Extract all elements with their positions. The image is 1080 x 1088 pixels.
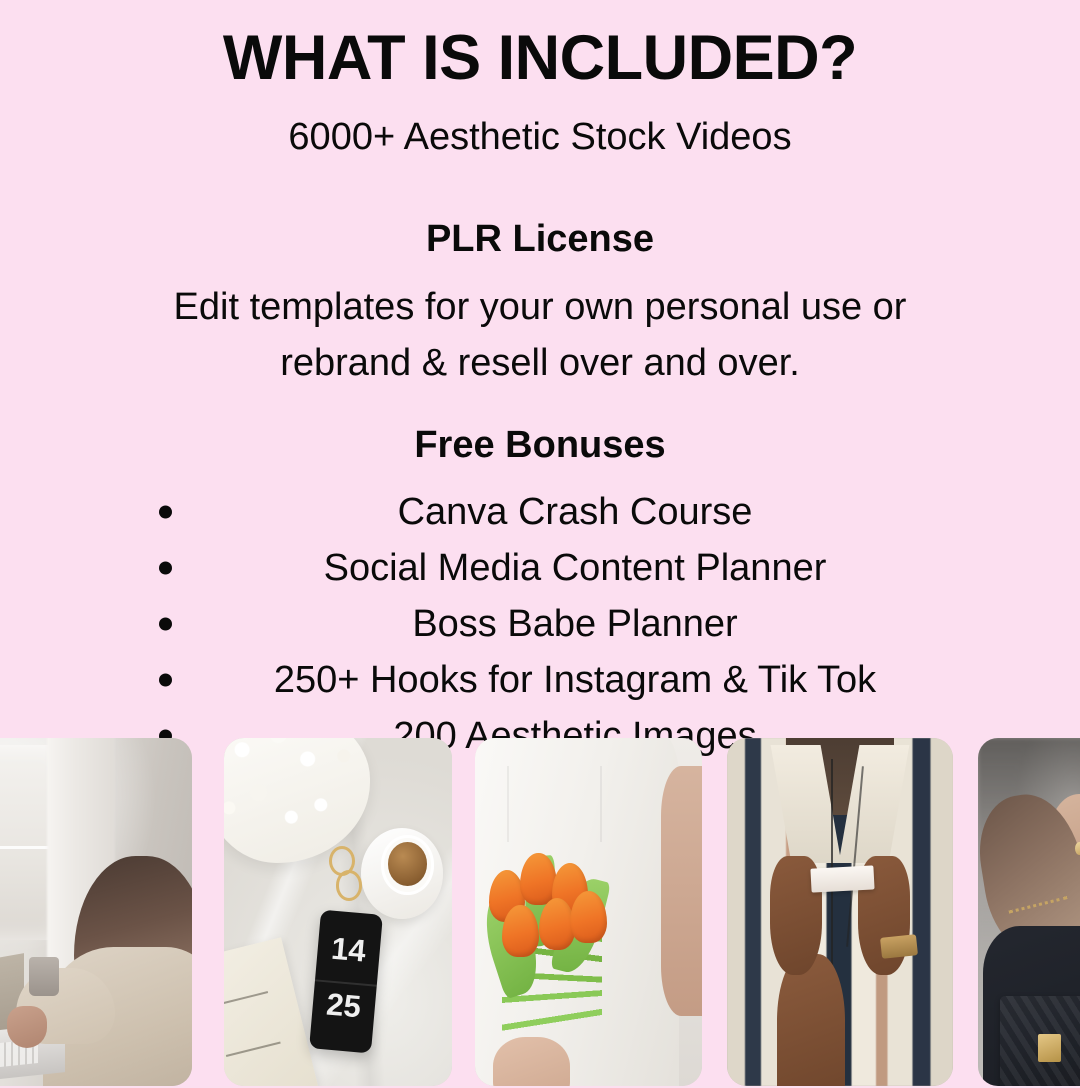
photo-illustration — [727, 738, 953, 1086]
gold-ring-icon — [336, 870, 363, 900]
photo-illustration — [0, 738, 192, 1086]
dress-seam — [507, 766, 602, 843]
tulip-bloom-shape — [570, 891, 606, 943]
cup-shape — [29, 957, 58, 995]
photo-card-woman-working-on-laptop-by-window — [0, 738, 192, 1086]
earring-icon — [1075, 842, 1080, 855]
list-item: 250+ Hooks for Instagram & Tik Tok — [0, 652, 1080, 708]
photo-illustration — [475, 738, 702, 1086]
license-description-line-1: Edit templates for your own personal use… — [0, 279, 1080, 335]
watch-shape — [880, 935, 918, 960]
arm-shape — [661, 766, 702, 1017]
phone-clock-divider — [315, 979, 376, 986]
hand-shape — [7, 1006, 48, 1048]
photo-illustration — [978, 738, 1080, 1086]
list-item-label: Canva Crash Course — [398, 491, 753, 533]
poster-canvas: WHAT IS INCLUDED? 6000+ Aesthetic Stock … — [0, 0, 1080, 1080]
hands-shape — [493, 1037, 570, 1086]
photo-card-woman-in-white-holding-orange-tulips — [475, 738, 702, 1086]
list-item: Social Media Content Planner — [0, 540, 1080, 596]
bullet-dot-icon — [159, 618, 172, 631]
bullet-dot-icon — [159, 674, 172, 687]
list-item: Boss Babe Planner — [0, 596, 1080, 652]
page-title: WHAT IS INCLUDED? — [0, 0, 1080, 92]
section-title-plr-license: PLR License — [0, 160, 1080, 263]
section-title-free-bonuses: Free Bonuses — [0, 391, 1080, 469]
photo-card-flatlay-hydrangea-coffee-phone-notebook: 14 25 — [224, 738, 452, 1086]
list-item-label: 250+ Hooks for Instagram & Tik Tok — [274, 659, 876, 701]
license-description: Edit templates for your own personal use… — [0, 262, 1080, 391]
phone-shape: 14 25 — [309, 910, 382, 1054]
photo-strip: 14 25 — [0, 738, 1080, 1088]
subtitle-stock-videos: 6000+ Aesthetic Stock Videos — [0, 92, 1080, 160]
list-item-label: Social Media Content Planner — [324, 547, 827, 589]
phone-clock-minutes: 25 — [312, 987, 376, 1023]
list-item: Canva Crash Course — [0, 484, 1080, 540]
bullet-dot-icon — [159, 506, 172, 519]
tulip-bloom-shape — [502, 905, 538, 957]
bag-clasp-icon — [1038, 1034, 1061, 1062]
business-card-shape — [810, 865, 874, 893]
list-item-label: Boss Babe Planner — [412, 603, 737, 645]
coffee-liquid-shape — [388, 842, 427, 886]
bullet-dot-icon — [159, 562, 172, 575]
bonus-list: Canva Crash Course Social Media Content … — [0, 469, 1080, 764]
text-content: WHAT IS INCLUDED? 6000+ Aesthetic Stock … — [0, 0, 1080, 764]
photo-card-person-in-striped-shirt-holding-card — [727, 738, 953, 1086]
license-description-line-2: rebrand & resell over and over. — [0, 335, 1080, 391]
photo-illustration: 14 25 — [224, 738, 452, 1086]
photo-card-street-style-ponytail-with-quilted-bag — [978, 738, 1080, 1086]
phone-clock-hours: 14 — [317, 932, 381, 968]
